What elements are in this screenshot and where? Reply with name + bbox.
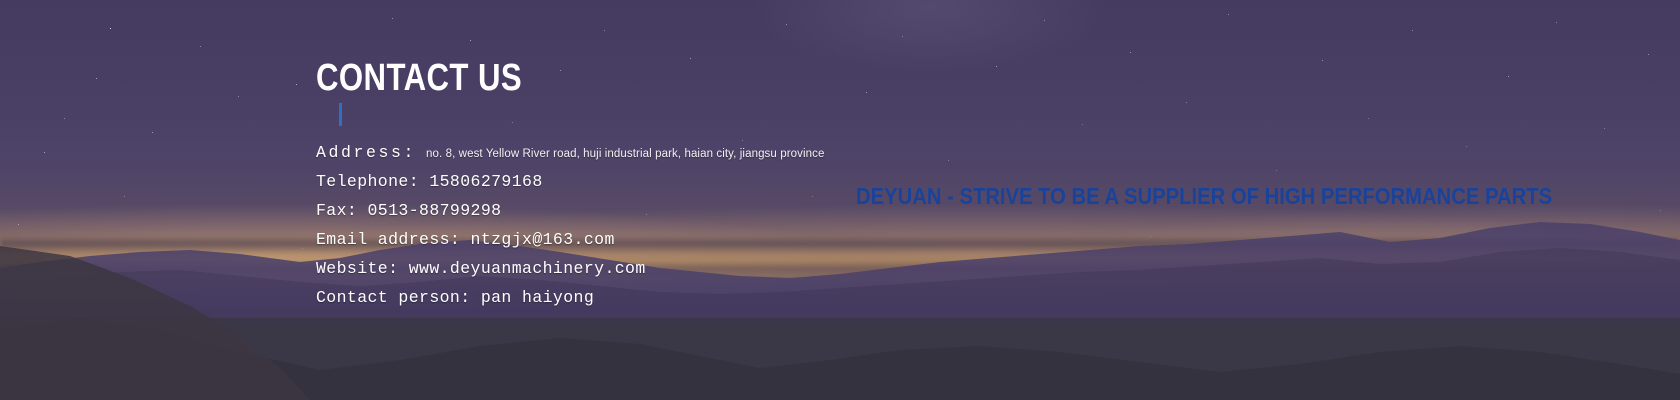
contact-row-website[interactable]: Website: www.deyuanmachinery.com — [316, 259, 1016, 288]
contact-row-contact-person: Contact person: pan haiyong — [316, 288, 1016, 317]
contact-row-address: Address: no. 8, west Yellow River road, … — [316, 143, 1016, 172]
contact-row-email[interactable]: Email address: ntzgjx@163.com — [316, 230, 1016, 259]
fax-text: Fax: 0513-88799298 — [316, 201, 501, 220]
title-accent-bar — [339, 103, 342, 126]
banner-content: CONTACT US Address: no. 8, west Yellow R… — [0, 0, 1680, 400]
contact-person-text: Contact person: pan haiyong — [316, 288, 594, 307]
contact-details-list: Address: no. 8, west Yellow River road, … — [316, 143, 1016, 317]
website-text[interactable]: Website: www.deyuanmachinery.com — [316, 259, 646, 278]
contact-us-banner: CONTACT US Address: no. 8, west Yellow R… — [0, 0, 1680, 400]
page-title: CONTACT US — [316, 58, 522, 98]
email-text[interactable]: Email address: ntzgjx@163.com — [316, 230, 615, 249]
company-tagline: DEYUAN - STRIVE TO BE A SUPPLIER OF HIGH… — [856, 183, 1552, 210]
telephone-text: Telephone: 15806279168 — [316, 172, 543, 191]
address-value: no. 8, west Yellow River road, huji indu… — [426, 148, 824, 160]
address-label: Address: — [316, 143, 416, 162]
